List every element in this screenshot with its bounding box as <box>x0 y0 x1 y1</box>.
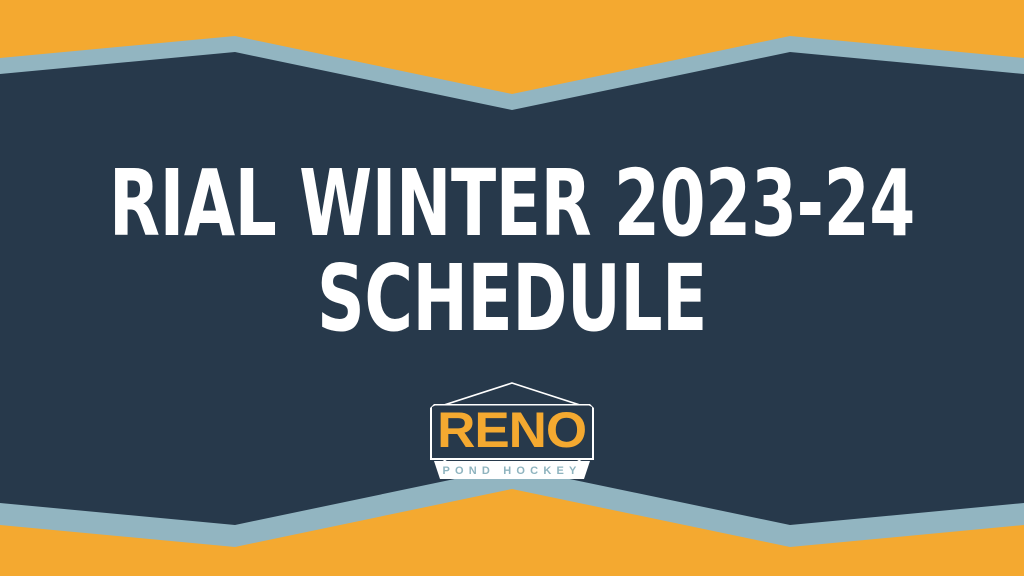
logo-wordmark-text: RENO <box>437 401 586 457</box>
title-line-secondary: SCHEDULE <box>102 253 921 344</box>
title-line-primary: RIAL WINTER 2023-24 <box>102 158 921 249</box>
logo-badge-icon: RENO RENO POND HOCKEY <box>404 380 620 488</box>
logo-tagline-text: POND HOCKEY <box>442 465 581 477</box>
poster-canvas: RIAL WINTER 2023-24 SCHEDULE RENO RENO P… <box>0 0 1024 576</box>
logo-wordmark-letters: RENO RENO <box>437 401 586 459</box>
reno-pond-hockey-logo: RENO RENO POND HOCKEY <box>404 380 620 488</box>
page-title: RIAL WINTER 2023-24 SCHEDULE <box>0 158 1024 344</box>
